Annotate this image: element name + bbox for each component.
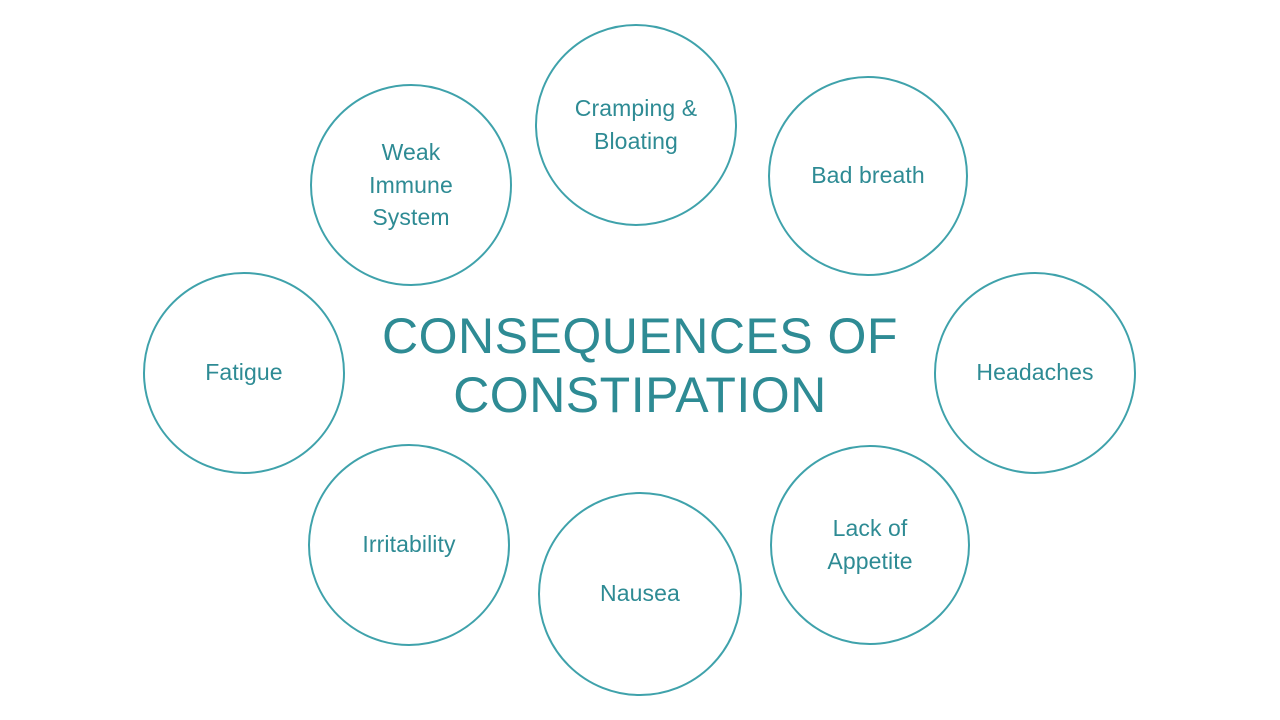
bubble-fatigue[interactable]: Fatigue [143, 272, 345, 474]
bubble-label-bad-breath: Bad breath [801, 160, 935, 191]
bubble-lack-of-appetite[interactable]: Lack of Appetite [770, 445, 970, 645]
bubble-label-lack-of-appetite: Lack of Appetite [817, 512, 922, 577]
bubble-label-irritability: Irritability [352, 529, 465, 560]
bubble-label-cramping-and-bloating: Cramping & Bloating [565, 92, 707, 157]
bubble-label-weak-immune-system: Weak Immune System [359, 136, 463, 234]
page-title-line-1: CONSEQUENCES OF [382, 307, 898, 366]
bubble-label-fatigue: Fatigue [195, 357, 292, 388]
page-title-line-2: CONSTIPATION [453, 366, 827, 425]
bubble-label-nausea: Nausea [590, 578, 690, 609]
bubble-cramping-and-bloating[interactable]: Cramping & Bloating [535, 24, 737, 226]
diagram-canvas: CONSEQUENCES OF CONSTIPATION Cramping & … [0, 0, 1280, 720]
bubble-weak-immune-system[interactable]: Weak Immune System [310, 84, 512, 286]
bubble-headaches[interactable]: Headaches [934, 272, 1136, 474]
bubble-nausea[interactable]: Nausea [538, 492, 742, 696]
bubble-irritability[interactable]: Irritability [308, 444, 510, 646]
bubble-bad-breath[interactable]: Bad breath [768, 76, 968, 276]
page-title: CONSEQUENCES OF CONSTIPATION [340, 296, 940, 436]
bubble-label-headaches: Headaches [966, 357, 1103, 388]
